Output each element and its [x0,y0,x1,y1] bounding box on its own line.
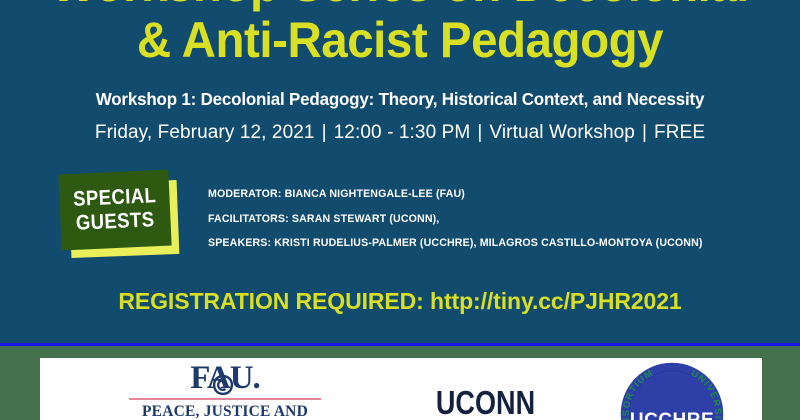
event-price: FREE [654,122,705,143]
poster-title: Workshop Series on Decolonial & Anti-Rac… [0,0,800,68]
event-time: 12:00 - 1:30 PM [334,122,471,143]
poster-main-area: Workshop Series on Decolonial & Anti-Rac… [0,0,800,343]
meta-separator-2: | [470,122,489,143]
ucchre-seal-icon: UNIVERSITY AND COLLEGE CONSORTIUM UCCHRE [618,360,726,420]
credit-moderator: MODERATOR: BIANCA NIGHTENGALE-LEE (FAU) [208,182,768,207]
title-line-1: Workshop Series on Decolonial [20,0,780,12]
uconn-wordmark-text: UCONN [435,386,534,420]
credit-facilitators: FACILITATORS: SARAN STEWART (UCONN), [208,207,768,232]
credit-speakers: SPEAKERS: KRISTI RUDELIUS-PALMER (UCCHRE… [208,231,768,256]
registration-url[interactable]: http://tiny.cc/PJHR2021 [430,288,682,314]
title-line-2: & Anti-Racist Pedagogy [20,12,780,68]
event-format: Virtual Workshop [489,122,635,143]
fau-swirl-icon [212,374,234,396]
logo-panel: FAU. PEACE, JUSTICE AND UCONN UNIVERSITY… [40,358,762,420]
event-date: Friday, February 12, 2021 [95,122,315,143]
uconn-logo: UCONN [395,386,575,420]
fau-logo: FAU. PEACE, JUSTICE AND [115,360,335,420]
ucchre-logo: UNIVERSITY AND COLLEGE CONSORTIUM UCCHRE [618,358,728,420]
registration-line: REGISTRATION REQUIRED: http://tiny.cc/PJ… [0,286,800,316]
badge-line-2: GUESTS [76,208,156,236]
fau-rule-divider [129,398,321,400]
event-meta-line: Friday, February 12, 2021|12:00 - 1:30 P… [0,120,800,146]
meta-separator-1: | [315,122,334,143]
fau-subtitle-text: PEACE, JUSTICE AND [115,402,335,420]
special-guests-badge: SPECIAL GUESTS [60,172,178,256]
meta-separator-3: | [635,122,654,143]
ucchre-wordmark-text: UCCHRE [630,410,714,420]
badge-face: SPECIAL GUESTS [58,170,171,251]
workshop-subtitle: Workshop 1: Decolonial Pedagogy: Theory,… [12,88,788,110]
registration-label: REGISTRATION REQUIRED: [118,288,423,314]
credits-list: MODERATOR: BIANCA NIGHTENGALE-LEE (FAU) … [208,182,768,256]
